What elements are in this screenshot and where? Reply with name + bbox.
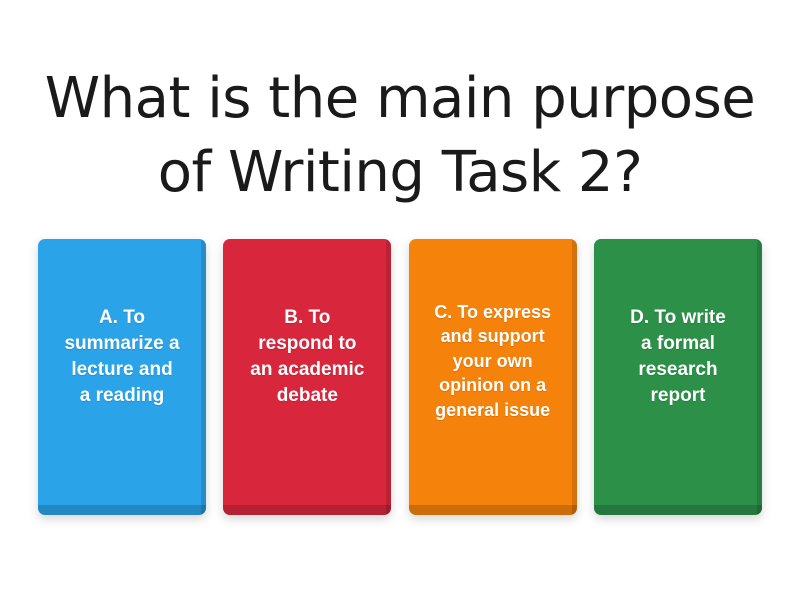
question-area: What is the main purpose of Writing Task… — [0, 62, 800, 210]
answer-card-d-label: D. To write a formal research report — [630, 305, 726, 409]
answer-card-b[interactable]: B. To respond to an academic debate — [223, 239, 391, 515]
answer-card-a[interactable]: A. To summarize a lecture and a reading — [38, 239, 206, 515]
answer-card-c[interactable]: C. To express and support your own opini… — [409, 239, 577, 515]
quiz-screen: What is the main purpose of Writing Task… — [0, 0, 800, 600]
question-text: What is the main purpose of Writing Task… — [14, 62, 786, 210]
answer-card-a-label: A. To summarize a lecture and a reading — [64, 305, 179, 409]
answer-card-d[interactable]: D. To write a formal research report — [594, 239, 762, 515]
answer-options-row: A. To summarize a lecture and a reading … — [38, 239, 762, 515]
answer-card-c-label: C. To express and support your own opini… — [434, 300, 551, 423]
answer-card-b-label: B. To respond to an academic debate — [250, 305, 364, 409]
